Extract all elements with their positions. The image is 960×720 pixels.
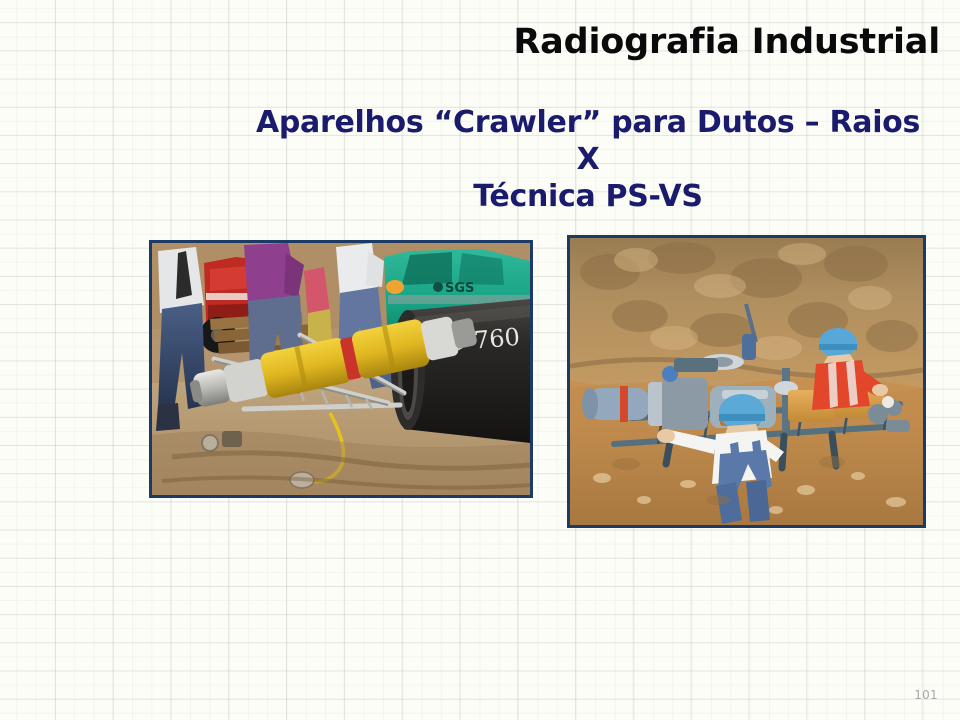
subtitle-line-3: Técnica PS-VS (232, 178, 944, 215)
subtitle-line-1: Aparelhos “Crawler” para Dutos – Raios (232, 104, 944, 141)
photo-right-content (570, 238, 923, 525)
svg-text:SGS: SGS (445, 281, 474, 296)
slide-canvas: Radiografia Industrial Aparelhos “Crawle… (0, 0, 960, 720)
crawler-trench-photo (567, 235, 926, 528)
page-number: 101 (914, 688, 938, 702)
subtitle-line-2: X (232, 141, 944, 178)
crawler-pipeline-field-photo: SGS (149, 240, 533, 498)
photo-left-content: SGS (152, 243, 530, 495)
slide-subtitle: Aparelhos “Crawler” para Dutos – Raios X… (232, 104, 944, 215)
photo-right-illustration (570, 238, 923, 525)
page-title: Radiografia Industrial (40, 24, 940, 61)
photo-left-illustration: SGS (152, 243, 530, 495)
